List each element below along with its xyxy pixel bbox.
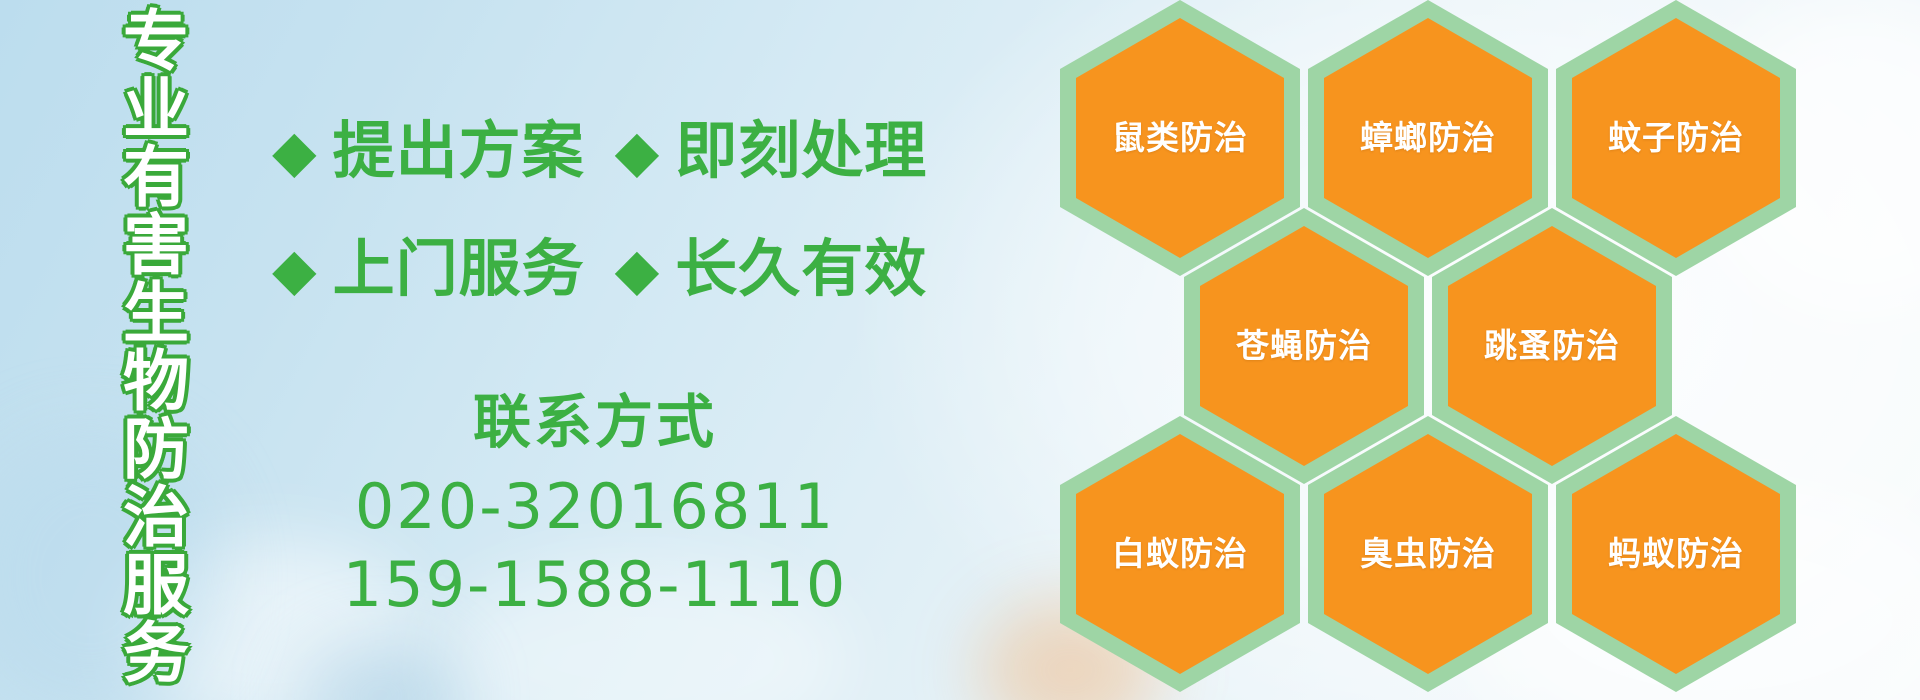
vertical-headline-char: 防 [123, 416, 189, 484]
contact-heading: 联系方式 [330, 390, 860, 454]
vertical-headline-char: 物 [123, 348, 189, 416]
hex-label: 鼠类防治 [1112, 120, 1248, 156]
contact-phone-landline[interactable]: 020-32016811 [330, 468, 860, 546]
feature-item-immediate-handling: ◆ 即刻处理 [615, 120, 928, 182]
diamond-bullet-icon: ◆ [615, 122, 660, 180]
vertical-headline-char: 害 [123, 212, 189, 280]
hex-inner: 鼠类防治 [1076, 18, 1284, 258]
feature-list: ◆ 提出方案 ◆ 即刻处理 ◆ 上门服务 ◆ 长久有效 [272, 92, 872, 328]
hex-label: 蚂蚁防治 [1608, 536, 1744, 572]
feature-label: 提出方案 [333, 120, 585, 182]
feature-row: ◆ 上门服务 ◆ 长久有效 [272, 210, 872, 328]
vertical-headline-char: 务 [123, 620, 189, 688]
feature-item-onsite-service: ◆ 上门服务 [272, 238, 585, 300]
vertical-headline-char: 有 [123, 144, 189, 212]
hex-label: 跳蚤防治 [1484, 328, 1620, 364]
hex-label: 臭虫防治 [1360, 536, 1496, 572]
hex-inner: 蚊子防治 [1572, 18, 1780, 258]
feature-item-propose-plan: ◆ 提出方案 [272, 120, 585, 182]
hex-inner: 苍蝇防治 [1200, 226, 1408, 466]
hex-inner: 白蚁防治 [1076, 434, 1284, 674]
feature-row: ◆ 提出方案 ◆ 即刻处理 [272, 92, 872, 210]
contact-phone-mobile[interactable]: 159-1588-1110 [330, 546, 860, 624]
hex-label: 白蚁防治 [1112, 536, 1248, 572]
feature-label: 上门服务 [333, 238, 585, 300]
hex-label: 蟑螂防治 [1360, 120, 1496, 156]
hex-label: 苍蝇防治 [1236, 328, 1372, 364]
contact-block: 联系方式 020-32016811 159-1588-1110 [330, 390, 860, 624]
vertical-headline: 专 业 有 害 生 物 防 治 服 务 [104, 8, 208, 688]
diamond-bullet-icon: ◆ [615, 240, 660, 298]
vertical-headline-char: 专 [123, 8, 189, 76]
hex-inner: 臭虫防治 [1324, 434, 1532, 674]
hex-inner: 蚂蚁防治 [1572, 434, 1780, 674]
feature-item-long-lasting: ◆ 长久有效 [615, 238, 928, 300]
feature-label: 长久有效 [675, 238, 927, 300]
hex-label: 蚊子防治 [1608, 120, 1744, 156]
hex-inner: 蟑螂防治 [1324, 18, 1532, 258]
vertical-headline-char: 业 [123, 76, 189, 144]
background-haze-blob [300, 640, 460, 700]
hex-inner: 跳蚤防治 [1448, 226, 1656, 466]
feature-label: 即刻处理 [675, 120, 927, 182]
vertical-headline-char: 治 [123, 484, 189, 552]
vertical-headline-char: 服 [123, 552, 189, 620]
vertical-headline-char: 生 [123, 280, 189, 348]
service-hexagon-grid: 鼠类防治 蟑螂防治 蚊子防治 苍蝇防治 跳蚤防治 白蚁防 [1060, 0, 1860, 698]
pest-control-banner: 专 业 有 害 生 物 防 治 服 务 ◆ 提出方案 ◆ 即刻处理 ◆ 上门服务 [0, 0, 1920, 700]
diamond-bullet-icon: ◆ [272, 122, 317, 180]
diamond-bullet-icon: ◆ [272, 240, 317, 298]
